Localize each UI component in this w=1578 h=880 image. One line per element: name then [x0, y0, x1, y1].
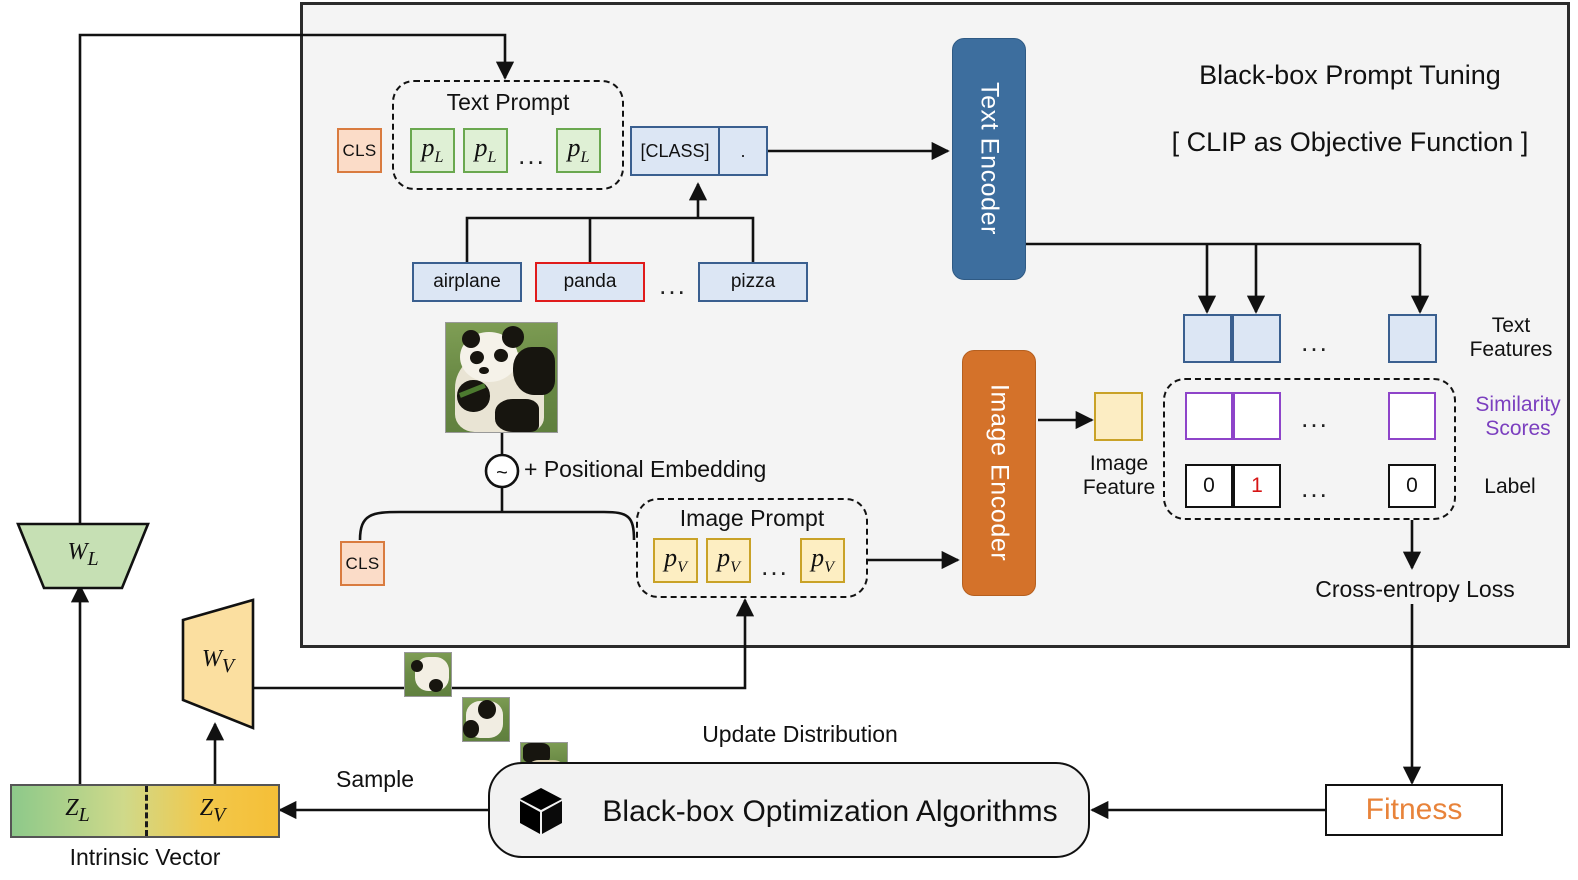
input-image-panda	[445, 322, 558, 433]
image-prompt-ellipsis: ...	[755, 552, 795, 580]
image-feature-label-line1: Image	[1090, 452, 1148, 476]
intrinsic-vector-caption: Intrinsic Vector	[0, 842, 290, 872]
panel-title-line1: Black-box Prompt Tuning	[1150, 58, 1550, 92]
class-name-airplane: airplane	[412, 262, 522, 302]
image-prompt-token-1: pV	[706, 538, 751, 583]
w-v-label: WV	[183, 643, 253, 681]
similarity-score-1	[1233, 392, 1281, 440]
label-row-label: Label	[1460, 472, 1560, 502]
label-value-1: 1	[1233, 464, 1281, 508]
class-token-box: [CLASS]	[630, 126, 720, 176]
similarity-scores-ellipsis: ...	[1294, 404, 1336, 432]
image-prompt-label: Image Prompt	[636, 504, 868, 532]
similarity-scores-label: Similarity Scores	[1460, 388, 1576, 446]
panel-title-line2: [ CLIP as Objective Function ]	[1140, 125, 1560, 159]
text-feature-1	[1232, 314, 1281, 363]
optimizer-box[interactable]: Black-box Optimization Algorithms	[488, 762, 1090, 858]
cube-icon	[518, 786, 564, 841]
text-features-ellipsis: ...	[1294, 328, 1336, 356]
image-patch-1	[462, 697, 510, 742]
class-name-pizza: pizza	[698, 262, 808, 302]
image-encoder-block: Image Encoder	[962, 350, 1036, 596]
intrinsic-z-v-label: ZV	[145, 794, 280, 828]
text-features-label-line1: Text Features	[1452, 314, 1570, 361]
text-prompt-token-1: pL	[463, 128, 508, 173]
sample-label: Sample	[300, 764, 450, 794]
text-feature-0	[1183, 314, 1232, 363]
image-feature-label: Image Feature	[1076, 448, 1162, 504]
image-prompt-token-0: pV	[653, 538, 698, 583]
period-token-box: .	[718, 126, 768, 176]
w-l-label: WL	[28, 536, 138, 574]
class-names-ellipsis: ...	[652, 272, 694, 298]
image-patch-0	[404, 652, 452, 697]
similarity-label-line2: Scores	[1485, 417, 1550, 441]
text-feature-2	[1388, 314, 1437, 363]
label-value-0: 0	[1185, 464, 1233, 508]
text-encoder-block: Text Encoder	[952, 38, 1026, 280]
similarity-score-0	[1185, 392, 1233, 440]
image-feature-label-line2: Feature	[1083, 476, 1155, 500]
image-cls-token: CLS	[340, 541, 385, 586]
fitness-box: Fitness	[1325, 784, 1503, 836]
label-values-ellipsis: ...	[1294, 474, 1336, 502]
update-distribution-label: Update Distribution	[640, 718, 960, 750]
image-feature-box	[1094, 392, 1143, 441]
text-cls-token: CLS	[337, 128, 382, 173]
text-prompt-token-0: pL	[410, 128, 455, 173]
similarity-label-line1: Similarity	[1475, 393, 1560, 417]
optimizer-box-label: Black-box Optimization Algorithms	[590, 790, 1070, 834]
text-prompt-token-2: pL	[556, 128, 601, 173]
positional-embedding-label: + Positional Embedding	[524, 456, 844, 486]
text-prompt-ellipsis: ...	[512, 140, 552, 170]
similarity-score-2	[1388, 392, 1436, 440]
diagram-canvas: ~ Black-box Prompt Tuning [ CLIP as Obje…	[0, 0, 1578, 880]
text-prompt-label: Text Prompt	[392, 88, 624, 116]
class-name-panda: panda	[535, 262, 645, 302]
text-features-label: Text Features	[1452, 308, 1570, 368]
intrinsic-z-l-label: ZL	[10, 794, 145, 828]
cross-entropy-loss-label: Cross-entropy Loss	[1270, 574, 1560, 604]
label-value-2: 0	[1388, 464, 1436, 508]
image-prompt-token-2: pV	[800, 538, 845, 583]
